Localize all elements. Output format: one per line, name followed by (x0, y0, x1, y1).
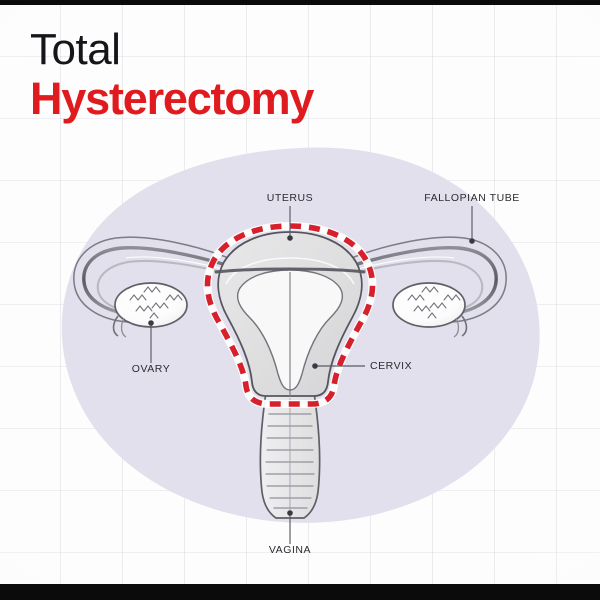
label-fallopian-tube: FALLOPIAN TUBE (424, 192, 520, 204)
diagram-canvas: UTERUS FALLOPIAN TUBE OVARY CERVIX VAGIN… (0, 0, 600, 600)
label-uterus: UTERUS (267, 192, 313, 204)
label-ovary: OVARY (132, 363, 171, 375)
title-line-total: Total (30, 28, 313, 72)
label-vagina: VAGINA (269, 544, 311, 556)
label-cervix: CERVIX (370, 360, 412, 372)
page-title: Total Hysterectomy (30, 28, 313, 121)
title-line-hysterectomy: Hysterectomy (30, 76, 313, 121)
